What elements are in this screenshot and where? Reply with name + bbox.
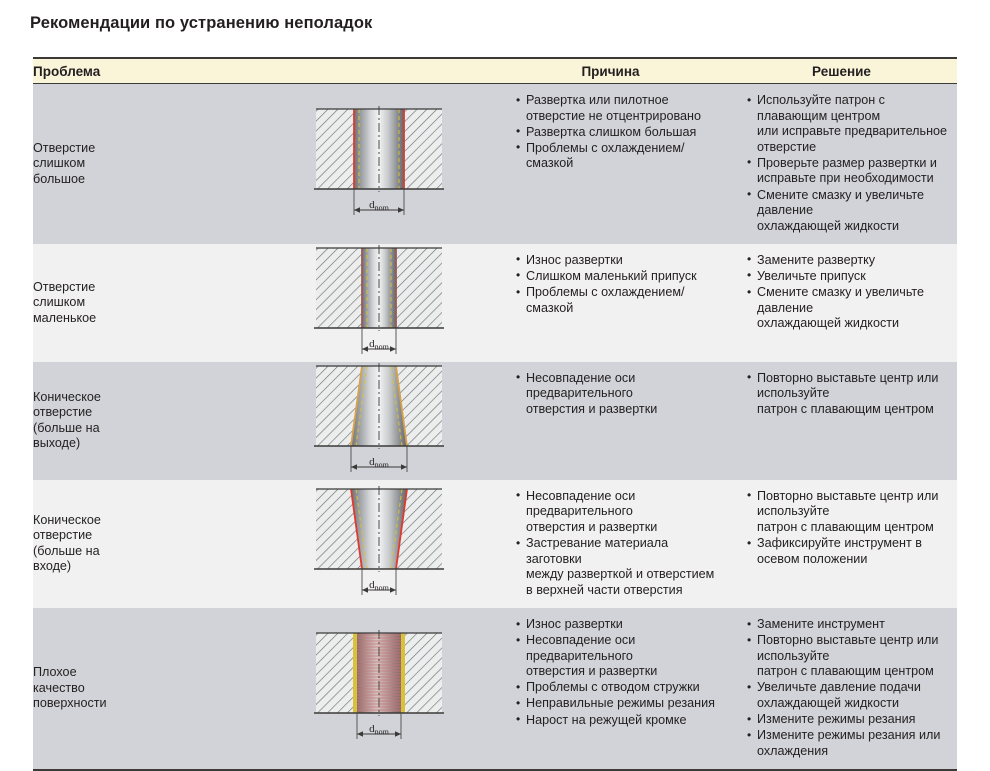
list-item: Проблемы с охлаждением/смазкой [516,285,720,316]
solution-list: Повторно выставьте центр или используйте… [726,362,957,427]
solution-list: Замените разверткуУвеличьте припускСмени… [726,244,957,341]
list-item: Измените режимы резания или охлаждения [747,728,951,759]
problem-diagram: dnom [264,244,495,362]
page-title: Рекомендации по устранению неполадок [30,14,372,33]
list-item: Слишком маленький припуск [516,269,720,285]
cause-list-cell: Несовпадение оси предварительного отверс… [495,480,726,608]
problem-label: Отверстие слишком большое [33,84,264,244]
cause-list-cell: Несовпадение оси предварительного отверс… [495,362,726,480]
list-item: Несовпадение оси предварительного отверс… [516,371,720,418]
list-item: Измените режимы резания [747,712,951,728]
list-item: Неправильные режимы резания [516,696,720,712]
problem-label: Отверстие слишком маленькое [33,244,264,362]
list-item: Несовпадение оси предварительного отверс… [516,489,720,536]
table-row: Отверстие слишком маленькоеdnomИзнос раз… [33,244,957,362]
list-item: Повторно выставьте центр или используйте… [747,633,951,680]
hole-oversize-figure: dnom [302,105,457,223]
cause-list: Износ разверткиСлишком маленький припуск… [495,244,726,326]
hole-rough-surface-figure: dnom [302,629,457,747]
column-header-cause: Причина [495,58,726,84]
list-item: Износ развертки [516,617,720,633]
cause-list-cell: Износ разверткиСлишком маленький припуск… [495,244,726,362]
problem-label: Коническое отверстие (больше на выходе) [33,362,264,480]
cause-list-cell: Износ разверткиНесовпадение оси предвари… [495,608,726,770]
list-item: Повторно выставьте центр или используйте… [747,489,951,536]
problem-diagram: dnom [264,362,495,480]
list-item: Нарост на режущей кромке [516,713,720,729]
solution-list: Используйте патрон с плавающим центром и… [726,84,957,244]
table-header-row: Проблема Причина Решение [33,58,957,84]
cause-list-cell: Развертка или пилотное отверстие не отце… [495,84,726,244]
solution-list-cell: Замените инструментПовторно выставьте це… [726,608,957,770]
cause-list: Износ разверткиНесовпадение оси предвари… [495,608,726,738]
table-header: Проблема Причина Решение [33,58,957,84]
hole-taper-entry-figure: dnom [302,485,457,603]
list-item: Износ развертки [516,253,720,269]
list-item: Замените развертку [747,253,951,269]
problem-label: Коническое отверстие (больше на входе) [33,480,264,608]
solution-list: Повторно выставьте центр или используйте… [726,480,957,577]
solution-list-cell: Используйте патрон с плавающим центром и… [726,84,957,244]
solution-list-cell: Повторно выставьте центр или используйте… [726,362,957,480]
solution-list: Замените инструментПовторно выставьте це… [726,608,957,769]
svg-text:dnom: dnom [369,456,390,470]
problem-diagram: dnom [264,608,495,770]
problem-label: Плохое качество поверхности [33,608,264,770]
column-header-solution: Решение [726,58,957,84]
list-item: Развертка слишком большая [516,125,720,141]
hole-undersize-figure: dnom [302,244,457,362]
solution-list-cell: Замените разверткуУвеличьте припускСмени… [726,244,957,362]
table-body: Отверстие слишком большоеdnomРазвертка и… [33,84,957,770]
list-item: Увеличьте припуск [747,269,951,285]
list-item: Замените инструмент [747,617,951,633]
list-item: Несовпадение оси предварительного отверс… [516,633,720,680]
svg-text:dnom: dnom [369,338,390,352]
cause-list: Несовпадение оси предварительного отверс… [495,480,726,608]
list-item: Зафиксируйте инструмент в осевом положен… [747,536,951,567]
problem-diagram: dnom [264,84,495,244]
svg-text:dnom: dnom [369,199,390,213]
table-row: Отверстие слишком большоеdnomРазвертка и… [33,84,957,244]
solution-list-cell: Повторно выставьте центр или используйте… [726,480,957,608]
cause-list: Развертка или пилотное отверстие не отце… [495,84,726,181]
troubleshooting-table: Проблема Причина Решение Отверстие слишк… [33,57,957,771]
list-item: Повторно выставьте центр или используйте… [747,371,951,418]
list-item: Застревание материала заготовки между ра… [516,536,720,598]
hole-taper-exit-figure: dnom [302,362,457,480]
list-item: Используйте патрон с плавающим центром и… [747,93,951,155]
list-item: Смените смазку и увеличьте давление охла… [747,188,951,235]
list-item: Развертка или пилотное отверстие не отце… [516,93,720,124]
list-item: Проверьте размер развертки и исправьте п… [747,156,951,187]
cause-list: Несовпадение оси предварительного отверс… [495,362,726,427]
list-item: Смените смазку и увеличьте давление охла… [747,285,951,332]
problem-diagram: dnom [264,480,495,608]
list-item: Проблемы с охлаждением/смазкой [516,141,720,172]
table-row: Коническое отверстие (больше на входе)dn… [33,480,957,608]
table-row: Плохое качество поверхностиdnomИзнос раз… [33,608,957,770]
column-header-problem: Проблема [33,58,495,84]
svg-text:dnom: dnom [369,723,390,737]
list-item: Проблемы с отводом стружки [516,680,720,696]
list-item: Увеличьте давление подачи охлаждающей жи… [747,680,951,711]
table-row: Коническое отверстие (больше на выходе)d… [33,362,957,480]
svg-text:dnom: dnom [369,579,390,593]
